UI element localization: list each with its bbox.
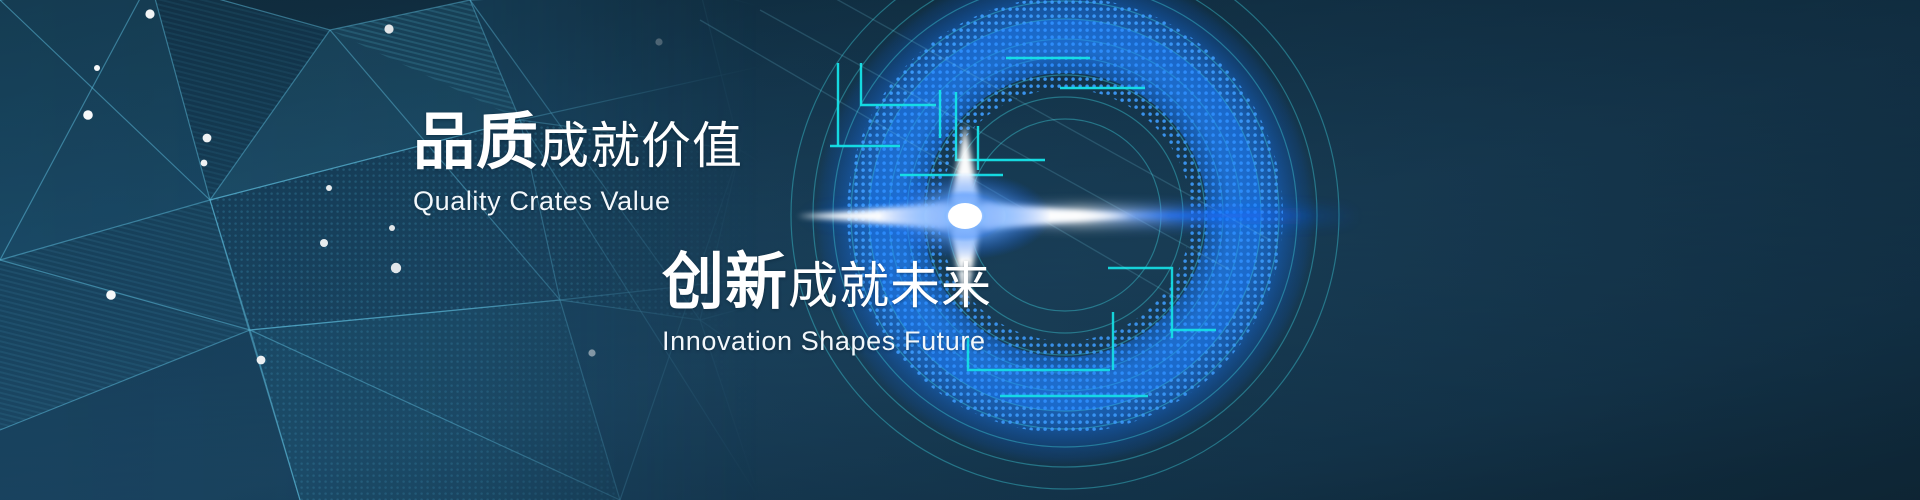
tagline-innovation-chinese-rest: 成就未来 xyxy=(788,261,992,311)
tagline-quality-english: Quality Crates Value xyxy=(413,186,743,217)
tagline-quality-chinese-lead: 品质 xyxy=(413,112,539,174)
tagline-quality: 品质 成就价值 Quality Crates Value xyxy=(413,112,743,217)
tagline-innovation-chinese-lead: 创新 xyxy=(662,252,788,314)
tagline-innovation-chinese: 创新 成就未来 xyxy=(662,252,992,314)
starburst-flare xyxy=(0,0,1920,500)
tagline-innovation: 创新 成就未来 Innovation Shapes Future xyxy=(662,252,992,357)
hero-banner: 品质 成就价值 Quality Crates Value 创新 成就未来 Inn… xyxy=(0,0,1920,500)
tagline-innovation-english: Innovation Shapes Future xyxy=(662,326,992,357)
tagline-quality-chinese-rest: 成就价值 xyxy=(539,121,743,171)
tagline-quality-chinese: 品质 成就价值 xyxy=(413,112,743,174)
